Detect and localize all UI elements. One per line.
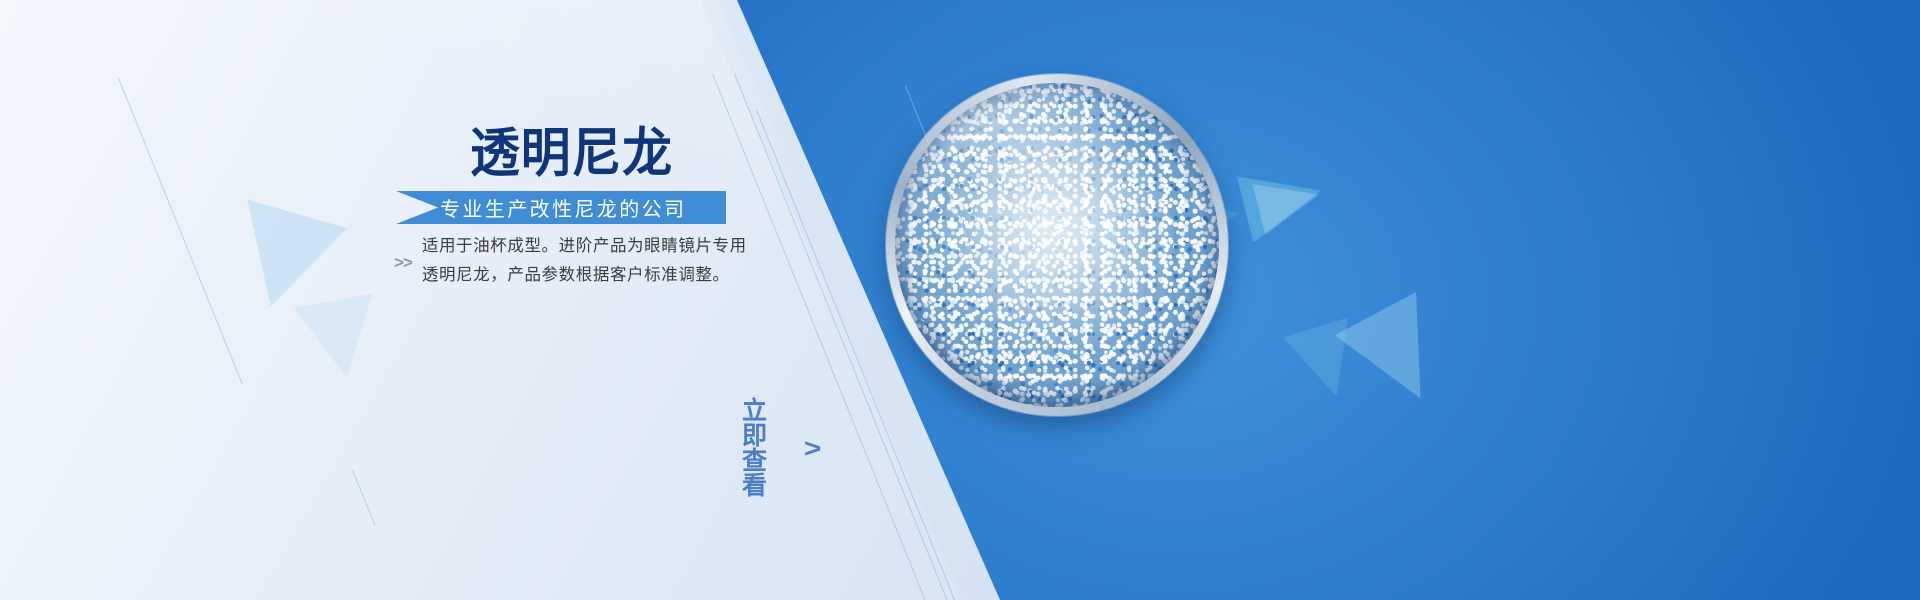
description-text: 适用于油杯成型。进阶产品为眼睛镜片专用 透明尼龙，产品参数根据客户标准调整。 (422, 232, 747, 290)
hero-banner: 透明尼龙 专业生产改性尼龙的公司 >> 适用于油杯成型。进阶产品为眼睛镜片专用 … (0, 0, 1920, 600)
view-now-button[interactable]: 立即查看 > (742, 399, 820, 499)
chevron-right-icon: > (804, 435, 821, 461)
page-title: 透明尼龙 (470, 127, 673, 180)
dish-interior (895, 83, 1219, 407)
pellets-core-highlight (940, 122, 1173, 368)
view-now-label: 立即查看 (742, 399, 793, 499)
banner-content: 透明尼龙 专业生产改性尼龙的公司 >> 适用于油杯成型。进阶产品为眼睛镜片专用 … (0, 0, 820, 600)
subtitle-ribbon-label: 专业生产改性尼龙的公司 (440, 193, 686, 222)
description-block: >> 适用于油杯成型。进阶产品为眼睛镜片专用 透明尼龙，产品参数根据客户标准调整… (394, 232, 747, 290)
double-chevron-icon: >> (394, 254, 412, 271)
subtitle-ribbon: 专业生产改性尼龙的公司 (396, 191, 726, 224)
product-image-petri-dish (886, 74, 1228, 416)
